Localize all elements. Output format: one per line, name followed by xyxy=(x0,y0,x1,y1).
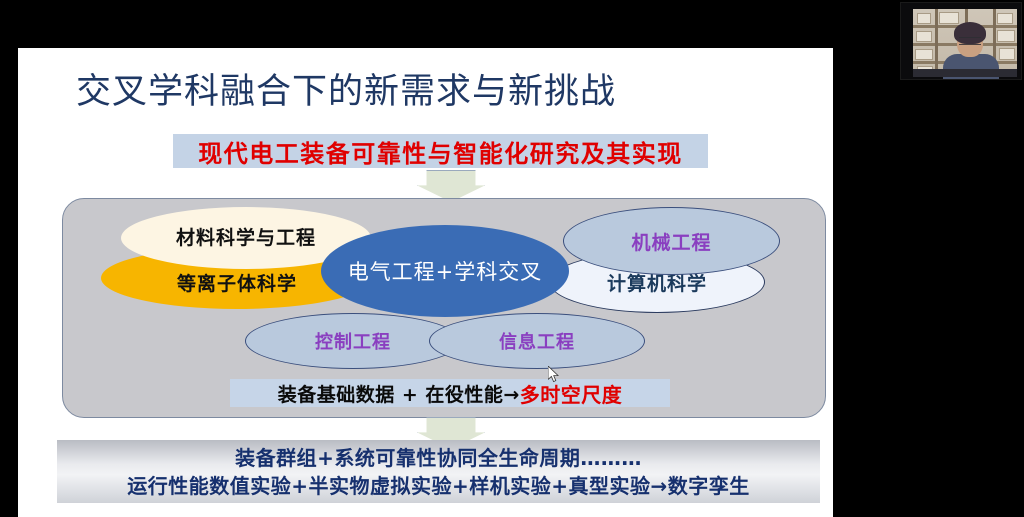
book xyxy=(997,13,1013,24)
ellipse-control-engineering-label: 控制工程 xyxy=(315,328,391,354)
book xyxy=(916,31,932,42)
book xyxy=(915,49,933,60)
ellipse-plasma-science-label: 等离子体科学 xyxy=(177,269,297,296)
book xyxy=(997,30,1015,42)
headline-banner: 现代电工装备可靠性与智能化研究及其实现 xyxy=(173,134,708,168)
book xyxy=(917,13,931,24)
conclusion-line-2: 运行性能数值实验+半实物虚拟实验+样机实验+真型实验→数字孪生 xyxy=(127,472,750,500)
presentation-screen: 交叉学科融合下的新需求与新挑战 现代电工装备可靠性与智能化研究及其实现 材料科学… xyxy=(0,0,1024,517)
page-title: 交叉学科融合下的新需求与新挑战 xyxy=(76,70,616,114)
slide-canvas: 交叉学科融合下的新需求与新挑战 现代电工装备可靠性与智能化研究及其实现 材料科学… xyxy=(18,48,833,517)
mid-equation-black-text: 装备基础数据 + 在役性能→ xyxy=(278,380,520,407)
ellipse-electrical-engineering-core-label: 电气工程+学科交叉 xyxy=(348,256,543,286)
ellipse-information-engineering-label: 信息工程 xyxy=(499,328,575,354)
ellipse-electrical-engineering-core: 电气工程+学科交叉 xyxy=(321,225,569,317)
presenter-video-thumbnail[interactable] xyxy=(900,2,1022,80)
ellipse-information-engineering: 信息工程 xyxy=(429,313,645,369)
ellipse-mechanical-engineering: 机械工程 xyxy=(563,207,780,275)
desk-foreground xyxy=(913,69,1017,77)
mid-equation-callout: 装备基础数据 + 在役性能→ 多时空尺度 xyxy=(230,379,670,407)
headline-banner-text: 现代电工装备可靠性与智能化研究及其实现 xyxy=(198,134,683,169)
ellipse-mechanical-engineering-label: 机械工程 xyxy=(631,228,711,255)
book xyxy=(999,48,1015,60)
mid-equation-red-text: 多时空尺度 xyxy=(520,379,623,408)
shelf-post xyxy=(935,9,938,77)
discipline-intersection-panel: 材料科学与工程 等离子体科学 机械工程 计算机科学 控制工程 信息工程 电气工程… xyxy=(62,198,826,418)
book xyxy=(939,12,959,24)
video-background-bookshelf xyxy=(913,9,1017,77)
ellipse-material-science-label: 材料科学与工程 xyxy=(176,223,316,250)
presenter-glasses xyxy=(959,37,981,45)
conclusion-line-1: 装备群组+系统可靠性协同全生命周期……… xyxy=(235,444,642,472)
conclusion-box: 装备群组+系统可靠性协同全生命周期……… 运行性能数值实验+半实物虚拟实验+样机… xyxy=(57,440,820,503)
